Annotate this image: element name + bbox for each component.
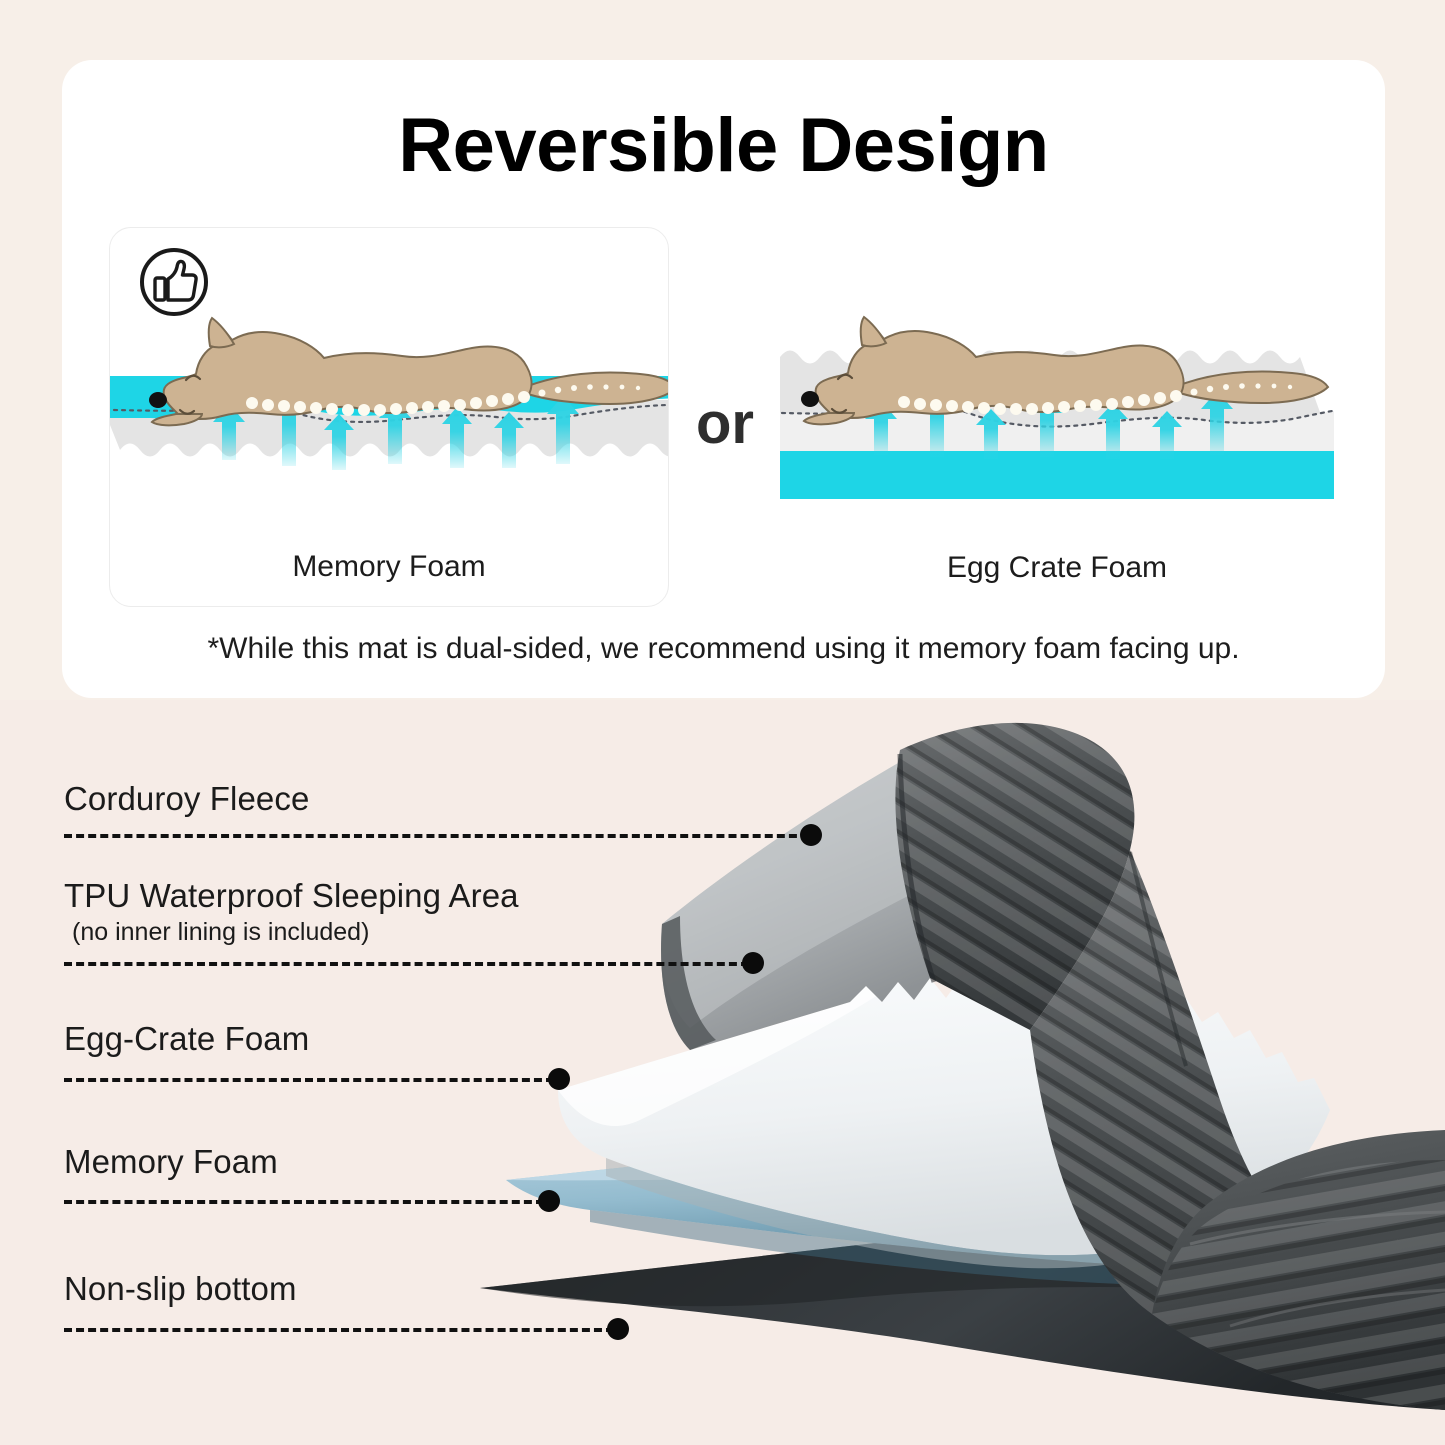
thumbs-up-icon <box>138 246 210 318</box>
callout-non-slip-bottom: Non-slip bottom <box>64 1270 297 1308</box>
leader-line-corduroy-fleece <box>64 834 809 838</box>
callout-egg-crate-foam: Egg-Crate Foam <box>64 1020 309 1058</box>
panel-egg-crate-foam[interactable]: Egg Crate Foam <box>762 227 1352 607</box>
leader-dot-memory-foam <box>538 1190 560 1212</box>
callout-tpu-waterproof-sleeping-area: TPU Waterproof Sleeping Area (no inner l… <box>64 877 519 947</box>
callout-list: Corduroy Fleece TPU Waterproof Sleeping … <box>0 700 1445 1445</box>
callout-title: TPU Waterproof Sleeping Area <box>64 877 519 915</box>
reversible-design-card: Reversible Design <box>62 60 1385 698</box>
leader-line-egg-crate-foam <box>64 1078 554 1082</box>
callout-corduroy-fleece: Corduroy Fleece <box>64 780 309 818</box>
page-title: Reversible Design <box>62 102 1385 189</box>
or-separator: or <box>680 390 770 457</box>
panel-memory-foam[interactable]: Memory Foam <box>109 227 669 607</box>
callout-memory-foam: Memory Foam <box>64 1143 278 1181</box>
leader-dot-tpu-waterproof-sleeping-area <box>742 952 764 974</box>
egg-crate-foam-illustration <box>762 227 1352 607</box>
callout-title: Corduroy Fleece <box>64 780 309 818</box>
leader-line-non-slip-bottom <box>64 1328 614 1332</box>
panel-caption-egg-crate-foam: Egg Crate Foam <box>762 551 1352 585</box>
leader-dot-non-slip-bottom <box>607 1318 629 1340</box>
footnote-text: *While this mat is dual-sided, we recomm… <box>62 632 1385 666</box>
leader-line-memory-foam <box>64 1200 544 1204</box>
callout-title: Egg-Crate Foam <box>64 1020 309 1058</box>
leader-line-tpu-waterproof-sleeping-area <box>64 962 749 966</box>
leader-dot-egg-crate-foam <box>548 1068 570 1090</box>
panel-caption-memory-foam: Memory Foam <box>110 550 668 584</box>
leader-dot-corduroy-fleece <box>800 824 822 846</box>
callout-title: Memory Foam <box>64 1143 278 1181</box>
callout-title: Non-slip bottom <box>64 1270 297 1308</box>
callout-subtitle: (no inner lining is included) <box>72 918 519 947</box>
